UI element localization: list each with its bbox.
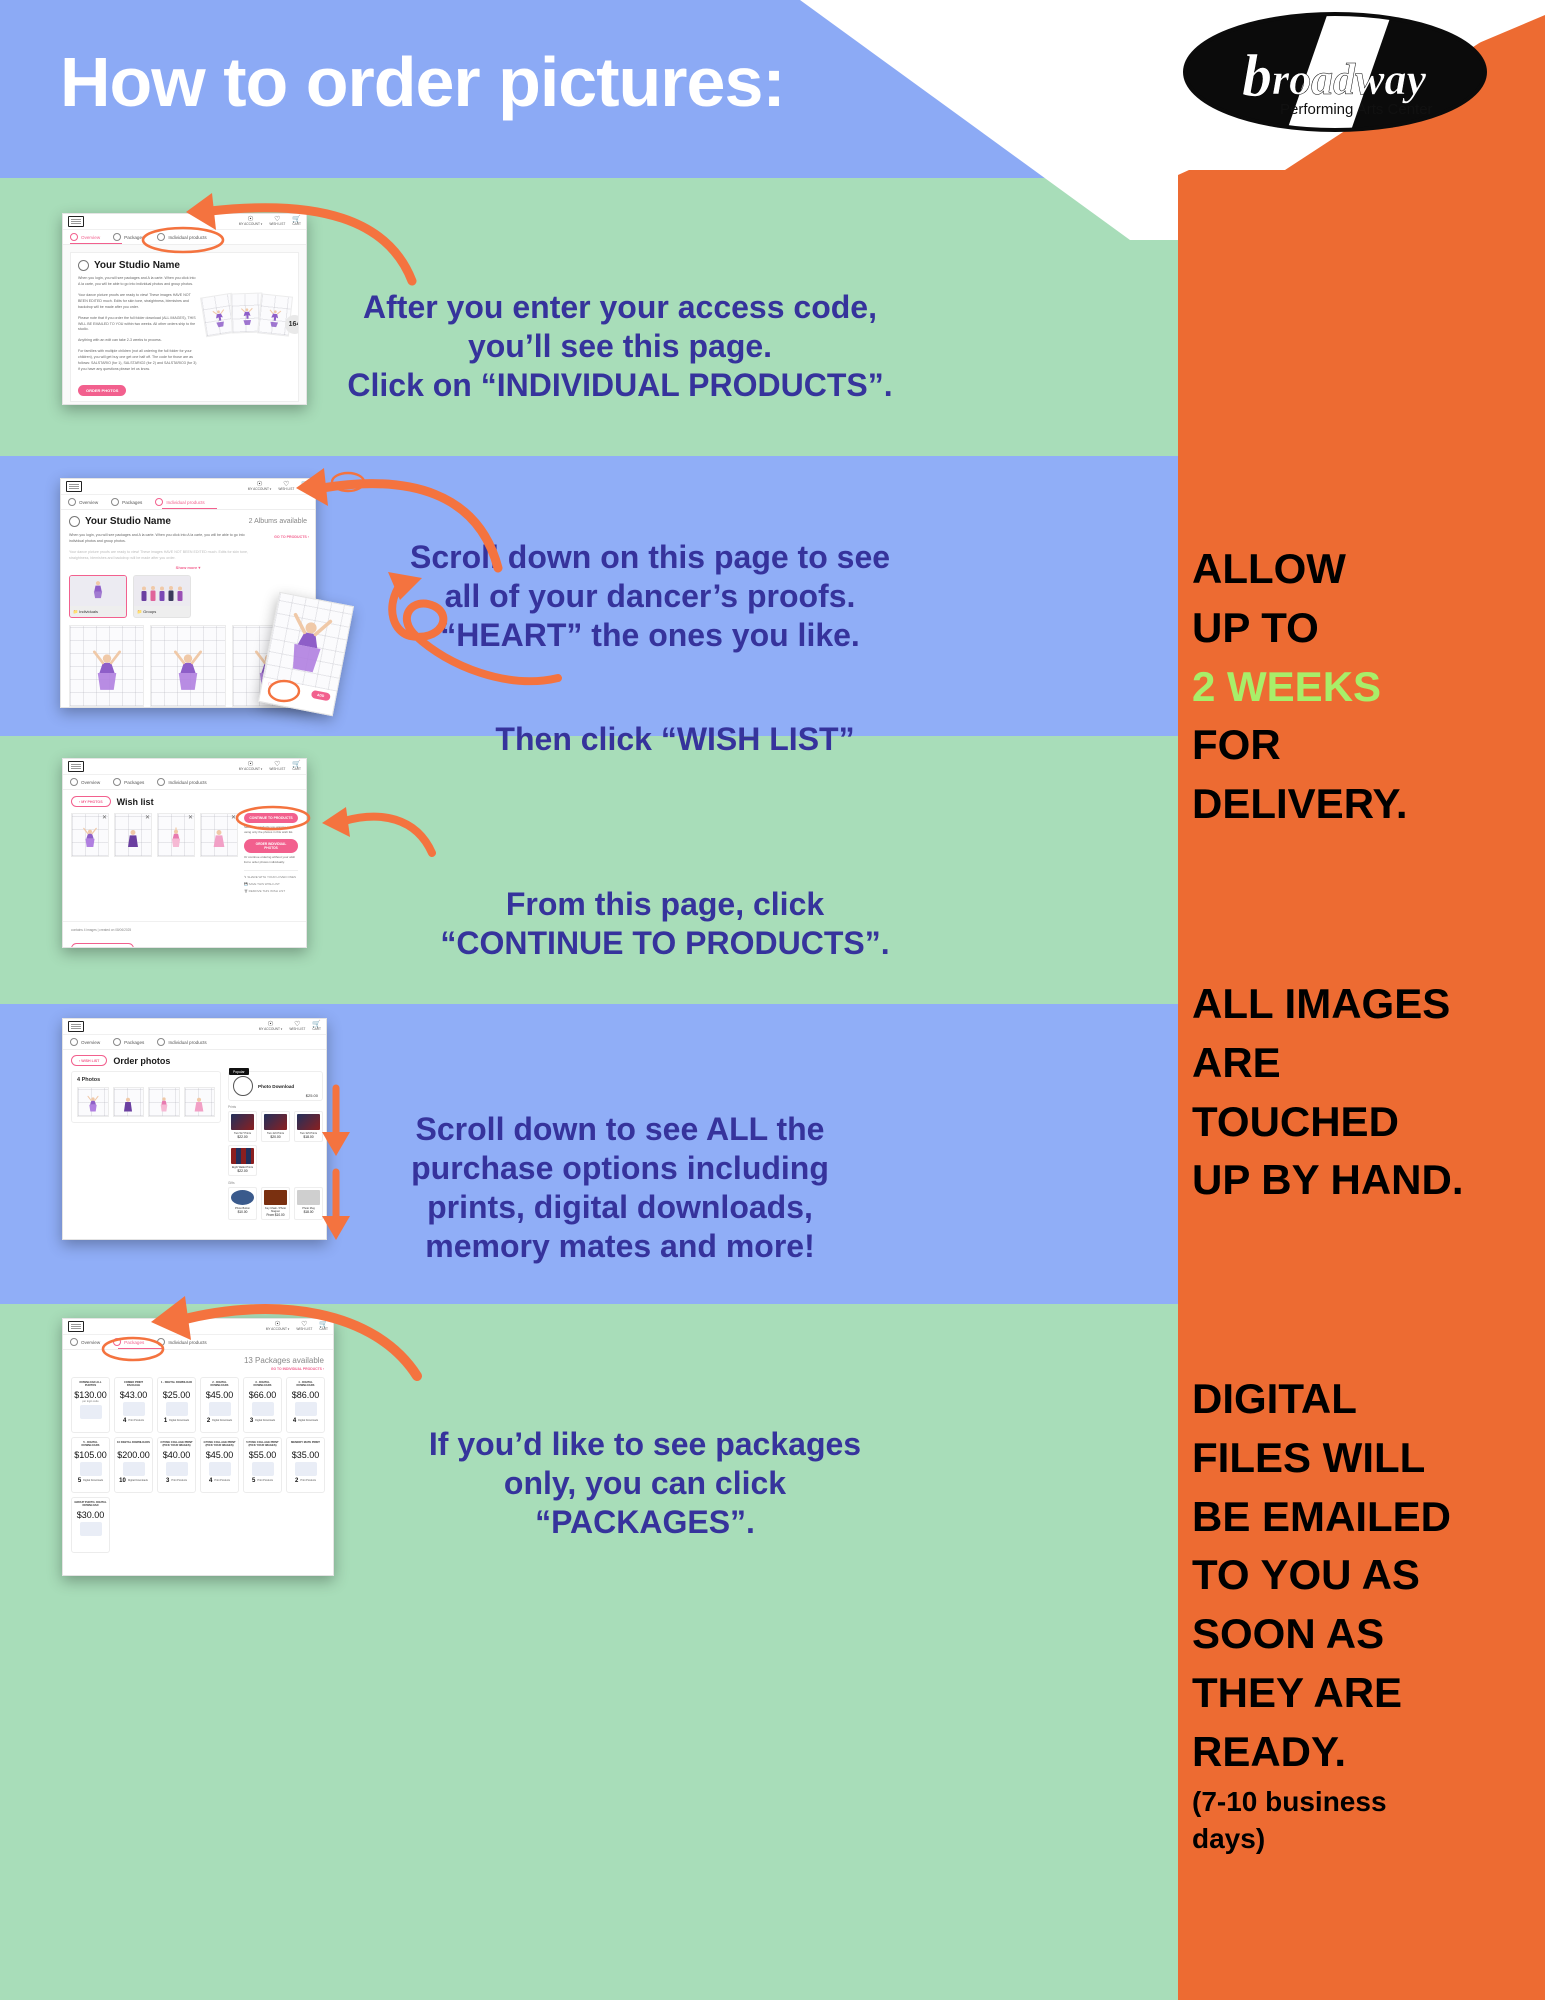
package-quantity: 5Digital Downloads — [74, 1478, 107, 1484]
package-card[interactable]: 2 - DIGITAL DOWNLOADS$45.002Digital Down… — [200, 1377, 239, 1433]
folder-label: 📁 Individuals — [70, 606, 126, 617]
package-thumb-icon — [252, 1402, 274, 1416]
order-photos-header: ‹ WISH LIST Order photos — [63, 1050, 326, 1071]
cart-icon[interactable]: 🛒CART — [319, 1321, 328, 1332]
package-price: $130.00 — [74, 1390, 107, 1400]
continue-to-products-button[interactable]: CONTINUE TO PRODUCTS — [244, 813, 298, 823]
home-icon — [70, 1338, 78, 1346]
package-card[interactable]: GROUP PHOTO- DIGITAL DOWNLOAD$30.00 — [71, 1497, 110, 1553]
selected-photos-panel: 4 Photos — [71, 1071, 221, 1123]
package-quantity: 1Digital Downloads — [160, 1418, 193, 1424]
note-line: BE EMAILED — [1192, 1488, 1531, 1547]
packages-grid: DOWNLOAD ALL PHOTOS$130.00per login code… — [63, 1371, 333, 1559]
tab-packages[interactable]: Packages — [113, 1038, 144, 1046]
note-retouch: ALL IMAGES ARE TOUCHED UP BY HAND. — [1178, 975, 1545, 1210]
cart-icon[interactable]: 🛒CART — [301, 481, 310, 492]
package-quantity: 4Print Products — [117, 1418, 150, 1424]
overview-paragraph: For families with multiple children (not… — [78, 349, 198, 373]
close-icon[interactable]: ✕ — [231, 814, 236, 821]
package-name: 1 - DIGITAL DOWNLOAD — [160, 1381, 193, 1388]
step-1-text: After you enter your access code, you’ll… — [330, 288, 910, 405]
create-new-wishlist-button[interactable]: + CREATE A NEW WISH LIST — [71, 943, 134, 948]
user-circle-icon[interactable]: ☉MY ACCOUNT ▾ — [266, 1321, 290, 1332]
studio-badge-icon — [78, 260, 89, 271]
step-text-line: Click on “INDIVIDUAL PRODUCTS”. — [330, 366, 910, 405]
package-name: COMBO PRINT PACKAGE — [117, 1381, 150, 1388]
photo-count-badge: 164 — [285, 315, 299, 334]
overview-paragraph: Please note that if you order the full f… — [78, 316, 198, 334]
tab-individual-products[interactable]: Individual products — [155, 498, 204, 506]
packages-available: 13 Packages available — [63, 1350, 333, 1367]
page-title: Order photos — [113, 1056, 170, 1066]
step-5-text: If you’d like to see packages only, you … — [410, 1425, 880, 1542]
package-name: 10 DIGITAL DOWNLOADS — [117, 1441, 150, 1448]
product-card[interactable]: Two 4x6 Prints $20.00 — [261, 1111, 290, 1142]
account-icons: ☉MY ACCOUNT ▾ ♡WISH LIST 🛒CART — [259, 1021, 321, 1032]
proof-photo[interactable] — [69, 625, 144, 707]
wishlist-photo[interactable]: ✕ — [71, 813, 109, 857]
prints-row: Two 5x7 Prints $22.00 Two 4x6 Prints $20… — [228, 1111, 323, 1142]
product-price: $22.00 — [231, 1169, 254, 1173]
step-text-line: From this page, click — [430, 885, 900, 924]
wishlist-photo[interactable]: ✕ — [200, 813, 238, 857]
mock-topbar: ☉MY ACCOUNT ▾ ♡WISH LIST 🛒CART — [63, 1019, 326, 1035]
my-photos-back-button[interactable]: ‹ MY PHOTOS — [71, 796, 111, 807]
product-price: From $10.00 — [264, 1213, 287, 1217]
note-line: DELIVERY. — [1192, 775, 1531, 834]
mock-nav: Overview Packages Individual products — [63, 230, 306, 245]
home-icon — [70, 778, 78, 786]
studio-title: Your Studio Name — [85, 516, 171, 527]
product-price: $20.00 — [264, 1135, 287, 1139]
screenshot-step-4: ☉MY ACCOUNT ▾ ♡WISH LIST 🛒CART Overview … — [62, 1018, 327, 1240]
screenshot-step-3: ☉MY ACCOUNT ▾ ♡WISH LIST 🛒CART Overview … — [62, 758, 307, 948]
studio-logo-icon — [68, 1021, 84, 1032]
heart-icon[interactable]: ♡ — [267, 681, 275, 690]
page-title: Wish list — [117, 797, 154, 807]
photos-count: 4 Photos — [77, 1077, 215, 1083]
package-name: 4 - DIGITAL DOWNLOADS — [289, 1381, 322, 1388]
overview-paragraph: Your dance picture proofs are ready to v… — [78, 293, 198, 311]
heart-icon[interactable]: ♡WISH LIST — [269, 216, 285, 227]
tab-overview[interactable]: Overview — [70, 778, 100, 786]
tab-packages[interactable]: Packages — [111, 498, 142, 506]
user-circle-icon[interactable]: ☉MY ACCOUNT ▾ — [259, 1021, 283, 1032]
step-text-line: prints, digital downloads, — [395, 1188, 845, 1227]
package-icon — [113, 778, 121, 786]
close-icon[interactable]: ✕ — [102, 814, 107, 821]
account-icons: ☉MY ACCOUNT ▾ ♡WISH LIST 🛒CART — [266, 1321, 328, 1332]
albums-available: 2 Albums available — [249, 518, 307, 525]
order-photos-body: 4 Photos Popular Photo Download $25.00 P… — [63, 1071, 326, 1220]
go-to-products-link[interactable]: GO TO PRODUCTS › — [274, 535, 309, 539]
screenshot-step-1: ☉MY ACCOUNT ▾ ♡WISH LIST 🛒CART Overview … — [62, 213, 307, 405]
package-price: $40.00 — [160, 1450, 193, 1460]
mock-nav: Overview Packages Individual products — [61, 495, 315, 510]
product-card[interactable]: Eight Wallet Prints $22.00 — [228, 1145, 257, 1176]
package-card[interactable]: DOWNLOAD ALL PHOTOS$130.00per login code — [71, 1377, 110, 1433]
camera-icon — [155, 498, 163, 506]
section-label: Gifts — [228, 1181, 323, 1185]
order-individual-photos-button[interactable]: ORDER INDIVIDUAL PHOTOS — [244, 839, 298, 853]
package-thumb-icon — [80, 1522, 102, 1536]
wishlist-body: ✕ ✕ ✕ ✕ CONTINUE TO PRODUCTS Sele — [63, 813, 306, 893]
package-quantity: 3Digital Downloads — [246, 1418, 279, 1424]
studio-badge-icon — [69, 516, 80, 527]
package-price: $66.00 — [246, 1390, 279, 1400]
package-card[interactable]: 10 DIGITAL DOWNLOADS$200.0010Digital Dow… — [114, 1437, 153, 1493]
intro-paragraph: Your dance picture proofs are ready to v… — [69, 550, 249, 562]
package-thumb-icon — [80, 1462, 102, 1476]
featured-product[interactable]: Popular Photo Download $25.00 — [228, 1071, 323, 1101]
product-price: $18.00 — [297, 1210, 320, 1214]
package-quantity: 4Digital Downloads — [289, 1418, 322, 1424]
package-quantity: 2Print Products — [289, 1478, 322, 1484]
package-price: $86.00 — [289, 1390, 322, 1400]
tab-overview[interactable]: Overview — [68, 498, 98, 506]
step-4-text: Scroll down to see ALL the purchase opti… — [395, 1110, 845, 1266]
mock-topbar: ☉MY ACCOUNT ▾ ♡WISH LIST 🛒CART — [63, 214, 306, 230]
active-tab-underline — [118, 1348, 162, 1350]
wishlist-meta: contains 4 images | created on 08/06/202… — [71, 928, 298, 932]
package-price: $35.00 — [289, 1450, 322, 1460]
cart-icon[interactable]: 🛒CART — [292, 216, 301, 227]
studio-header-row: Your Studio Name 2 Albums available — [61, 510, 315, 533]
account-icons: ☉MY ACCOUNT ▾ ♡WISH LIST 🛒CART — [239, 216, 301, 227]
package-name: 5 - DIGITAL DOWNLOADS — [74, 1441, 107, 1448]
download-icon — [233, 1076, 253, 1096]
package-card[interactable]: 3 POSE COLLAGE PRINT (PICK YOUR IMAGES)$… — [157, 1437, 196, 1493]
heart-icon[interactable]: ♡WISH LIST — [296, 1321, 312, 1332]
package-thumb-icon — [123, 1462, 145, 1476]
package-thumb-icon — [123, 1402, 145, 1416]
step-text-line: memory mates and more! — [395, 1227, 845, 1266]
studio-logo-icon — [66, 481, 82, 492]
tab-overview[interactable]: Overview — [70, 1038, 100, 1046]
folder-groups[interactable]: 📁 Groups — [133, 575, 191, 618]
order-photo[interactable] — [113, 1087, 145, 1117]
wishlist-header: ‹ MY PHOTOS Wish list — [63, 790, 306, 813]
studio-logo-icon — [68, 1321, 84, 1332]
page-title: How to order pictures: — [60, 46, 900, 120]
package-icon — [111, 498, 119, 506]
proof-photo[interactable] — [150, 625, 225, 707]
mock-topbar: ☉MY ACCOUNT ▾ ♡WISH LIST 🛒CART — [63, 759, 306, 775]
add-to-wishlist-button[interactable]: ADD — [310, 690, 331, 702]
step-text-line: “CONTINUE TO PRODUCTS”. — [430, 924, 900, 963]
package-price: $200.00 — [117, 1450, 150, 1460]
gifts-row: Photo Button $10.00 Key Chain / Photo Ma… — [228, 1187, 323, 1220]
studio-logo-icon — [68, 761, 84, 772]
package-name: 3 POSE COLLAGE PRINT (PICK YOUR IMAGES) — [160, 1441, 193, 1448]
screenshot-step-5: ☉MY ACCOUNT ▾ ♡WISH LIST 🛒CART Overview … — [62, 1318, 334, 1576]
active-tab-underline — [162, 508, 217, 510]
account-icons: ☉MY ACCOUNT ▾ ♡WISH LIST 🛒CART — [239, 761, 301, 772]
package-card[interactable]: 3 - DIGITAL DOWNLOADS$66.003Digital Down… — [243, 1377, 282, 1433]
cart-icon[interactable]: 🛒CART — [312, 1021, 321, 1032]
package-thumb-icon — [80, 1405, 102, 1419]
mock2-intro: When you login, you will see packages an… — [61, 533, 315, 570]
package-card[interactable]: 4 - DIGITAL DOWNLOADS$86.004Digital Down… — [286, 1377, 325, 1433]
step-text-line: only, you can click — [410, 1464, 880, 1503]
product-card[interactable]: Key Chain / Photo Magnet From $10.00 — [261, 1187, 290, 1220]
wishlist-actions: CONTINUE TO PRODUCTS Select the products… — [244, 813, 298, 893]
package-price: $45.00 — [203, 1450, 236, 1460]
tab-overview[interactable]: Overview — [70, 233, 100, 241]
note-line: ALLOW — [1192, 540, 1531, 599]
package-name: 4 POSE COLLAGE PRINT (PICK YOUR IMAGES) — [203, 1441, 236, 1448]
home-icon — [68, 498, 76, 506]
package-thumb-icon — [295, 1462, 317, 1476]
product-price: $22.00 — [231, 1135, 254, 1139]
save-wishlist-link[interactable]: 💾 SAVE THIS WISH LIST — [244, 882, 298, 886]
package-thumb-icon — [166, 1462, 188, 1476]
step-text-line: you’ll see this page. — [330, 327, 910, 366]
package-icon — [113, 1038, 121, 1046]
home-icon — [70, 1038, 78, 1046]
popular-badge: Popular — [229, 1068, 249, 1075]
package-note: per login code — [74, 1400, 107, 1403]
package-name: 5 POSE COLLAGE PRINT (PICK YOUR IMAGES) — [246, 1441, 279, 1448]
studio-title: Your Studio Name — [94, 260, 180, 271]
step-text-line: “PACKAGES”. — [410, 1503, 880, 1542]
tab-individual-products[interactable]: Individual products — [157, 1338, 206, 1346]
wishlist-photo[interactable]: ✕ — [157, 813, 195, 857]
studio-logo-icon — [68, 216, 84, 227]
tab-individual-products[interactable]: Individual products — [157, 233, 206, 241]
note-line: THEY ARE — [1192, 1664, 1531, 1723]
order-photos-button[interactable]: ORDER PHOTOS — [78, 385, 126, 396]
package-card[interactable]: 5 - DIGITAL DOWNLOADS$105.005Digital Dow… — [71, 1437, 110, 1493]
featured-price: $25.00 — [306, 1093, 318, 1098]
package-price: $43.00 — [117, 1390, 150, 1400]
package-quantity: 5Print Products — [246, 1478, 279, 1484]
note-line: SOON AS — [1192, 1605, 1531, 1664]
step-text-line: “HEART” the ones you like. — [390, 616, 910, 655]
close-icon[interactable]: ✕ — [188, 814, 193, 821]
product-price: $18.00 — [297, 1135, 320, 1139]
package-quantity: 2Digital Downloads — [203, 1418, 236, 1424]
note-line: UP TO — [1192, 599, 1531, 658]
package-thumb-icon — [209, 1462, 231, 1476]
step-text-line: If you’d like to see packages — [410, 1425, 880, 1464]
package-card[interactable]: MEMORY MATE PRINT$35.002Print Products — [286, 1437, 325, 1493]
user-circle-icon[interactable]: ☉MY ACCOUNT ▾ — [239, 761, 263, 772]
camera-icon — [157, 1338, 165, 1346]
note-line: ARE — [1192, 1034, 1531, 1093]
step-text-line: all of your dancer’s proofs. — [390, 577, 910, 616]
folder-label: 📁 Groups — [134, 606, 190, 617]
package-quantity: 4Print Products — [203, 1478, 236, 1484]
package-name: 2 - DIGITAL DOWNLOADS — [203, 1381, 236, 1388]
step-3-text: From this page, click “CONTINUE TO PRODU… — [430, 885, 900, 963]
package-quantity: 3Print Products — [160, 1478, 193, 1484]
note-subline: days) — [1192, 1821, 1531, 1856]
step-2-text-secondary: Then click “WISH LIST” — [450, 720, 900, 759]
product-card[interactable]: Two 5x7 Prints $22.00 — [228, 1111, 257, 1142]
home-icon — [70, 233, 78, 241]
package-price: $55.00 — [246, 1450, 279, 1460]
note-delivery: ALLOW UP TO 2 WEEKS FOR DELIVERY. — [1178, 540, 1545, 834]
overview-paragraph: When you login, you will see packages an… — [78, 276, 198, 288]
package-name: 3 - DIGITAL DOWNLOADS — [246, 1381, 279, 1388]
wishlist-photo[interactable]: ✕ — [114, 813, 152, 857]
prints-row-2: Eight Wallet Prints $22.00 — [228, 1145, 323, 1176]
heart-icon[interactable]: ♡WISH LIST — [278, 481, 294, 492]
mock-topbar: ☉MY ACCOUNT ▾ ♡WISH LIST 🛒CART — [63, 1319, 333, 1335]
package-card[interactable]: 4 POSE COLLAGE PRINT (PICK YOUR IMAGES)$… — [200, 1437, 239, 1493]
note-line: FOR — [1192, 716, 1531, 775]
overview-paragraph: Anything with an edit can take 2-3 weeks… — [78, 338, 198, 344]
secondary-desc: Or continue ordering without your wish l… — [244, 855, 298, 865]
wishlist-footer: contains 4 images | created on 08/06/202… — [63, 921, 306, 948]
package-card[interactable]: 5 POSE COLLAGE PRINT (PICK YOUR IMAGES)$… — [243, 1437, 282, 1493]
featured-title: Photo Download — [258, 1084, 294, 1089]
camera-icon — [157, 1038, 165, 1046]
package-price: $105.00 — [74, 1450, 107, 1460]
package-name: GROUP PHOTO- DIGITAL DOWNLOAD — [74, 1501, 107, 1508]
order-photo[interactable] — [77, 1087, 109, 1117]
active-tab-underline — [70, 243, 122, 245]
package-icon — [113, 1338, 121, 1346]
remove-wishlist-link[interactable]: 🗑 REMOVE THIS WISH LIST — [244, 889, 298, 893]
note-line: FILES WILL — [1192, 1429, 1531, 1488]
tab-individual-products[interactable]: Individual products — [157, 1038, 206, 1046]
mock-nav: Overview Packages Individual products — [63, 775, 306, 790]
mock-body: Your Studio Name When you login, you wil… — [63, 245, 306, 405]
step-text-line: Then click “WISH LIST” — [450, 720, 900, 759]
intro-paragraph: When you login, you will see packages an… — [69, 533, 249, 545]
package-quantity: 10Digital Downloads — [117, 1478, 150, 1484]
mock-topbar: ☉MY ACCOUNT ▾ ♡WISH LIST 🛒CART — [61, 479, 315, 495]
package-thumb-icon — [209, 1402, 231, 1416]
cart-icon[interactable]: 🛒CART — [292, 761, 301, 772]
package-name: DOWNLOAD ALL PHOTOS — [74, 1381, 107, 1388]
note-digital: DIGITAL FILES WILL BE EMAILED TO YOU AS … — [1178, 1370, 1545, 1856]
close-icon[interactable]: ✕ — [145, 814, 150, 821]
heart-icon[interactable]: ♡WISH LIST — [289, 1021, 305, 1032]
step-text-line: After you enter your access code, — [330, 288, 910, 327]
package-price: $25.00 — [160, 1390, 193, 1400]
show-more-link[interactable]: Show more ▾ — [69, 565, 307, 570]
tab-overview[interactable]: Overview — [70, 1338, 100, 1346]
tab-packages[interactable]: Packages — [113, 1338, 144, 1346]
share-wishlist-link[interactable]: ↯ SHARE WITH YOUR LOVED ONES — [244, 875, 298, 879]
tab-packages[interactable]: Packages — [113, 233, 144, 241]
step-text-line: purchase options including — [395, 1149, 845, 1188]
studio-title-row: Your Studio Name — [69, 516, 171, 527]
products-panel: Popular Photo Download $25.00 Prints Two… — [228, 1071, 323, 1220]
user-circle-icon[interactable]: ☉MY ACCOUNT ▾ — [239, 216, 263, 227]
tab-packages[interactable]: Packages — [113, 778, 144, 786]
note-line: ALL IMAGES — [1192, 975, 1531, 1034]
package-thumb-icon — [166, 1402, 188, 1416]
package-thumb-icon — [252, 1462, 274, 1476]
studio-title-row: Your Studio Name — [78, 260, 291, 271]
order-photo[interactable] — [148, 1087, 180, 1117]
wish-list-back-button[interactable]: ‹ WISH LIST — [71, 1055, 107, 1066]
step-text-line: Scroll down on this page to see — [390, 538, 910, 577]
note-line: TO YOU AS — [1192, 1546, 1531, 1605]
poster-root: How to order pictures: b roadway Perform… — [0, 0, 1545, 2000]
package-icon — [113, 233, 121, 241]
camera-icon — [157, 233, 165, 241]
product-card[interactable]: Photo Button $10.00 — [228, 1187, 257, 1220]
package-card[interactable]: 1 - DIGITAL DOWNLOAD$25.001Digital Downl… — [157, 1377, 196, 1433]
camera-icon — [157, 778, 165, 786]
package-thumb-icon — [295, 1402, 317, 1416]
step-2-text: Scroll down on this page to see all of y… — [390, 538, 910, 655]
note-line-highlight: 2 WEEKS — [1192, 658, 1531, 717]
account-icons: ☉MY ACCOUNT ▾ ♡WISH LIST 🛒CART — [248, 481, 310, 492]
note-subline: (7-10 business — [1192, 1784, 1531, 1819]
section-label: Prints — [228, 1105, 323, 1109]
primary-desc: Select the products you want to order us… — [244, 825, 298, 835]
tab-individual-products[interactable]: Individual products — [157, 778, 206, 786]
note-line: DIGITAL — [1192, 1370, 1531, 1429]
package-card[interactable]: COMBO PRINT PACKAGE$43.004Print Products — [114, 1377, 153, 1433]
mock-nav: Overview Packages Individual products — [63, 1335, 333, 1350]
package-price: $45.00 — [203, 1390, 236, 1400]
folder-individuals[interactable]: 📁 Individuals — [69, 575, 127, 618]
user-circle-icon[interactable]: ☉MY ACCOUNT ▾ — [248, 481, 272, 492]
note-line: TOUCHED — [1192, 1093, 1531, 1152]
package-price: $30.00 — [74, 1510, 107, 1520]
heart-icon[interactable]: ♡WISH LIST — [269, 761, 285, 772]
product-card[interactable]: Photo Mug $18.00 — [294, 1187, 323, 1220]
mock-nav: Overview Packages Individual products — [63, 1035, 326, 1050]
order-photo[interactable] — [184, 1087, 216, 1117]
note-line: UP BY HAND. — [1192, 1151, 1531, 1210]
package-name: MEMORY MATE PRINT — [289, 1441, 322, 1448]
step-text-line: Scroll down to see ALL the — [395, 1110, 845, 1149]
product-card[interactable]: Two 3x5 Prints $18.00 — [294, 1111, 323, 1142]
product-price: $10.00 — [231, 1210, 254, 1214]
note-line: READY. — [1192, 1723, 1531, 1782]
